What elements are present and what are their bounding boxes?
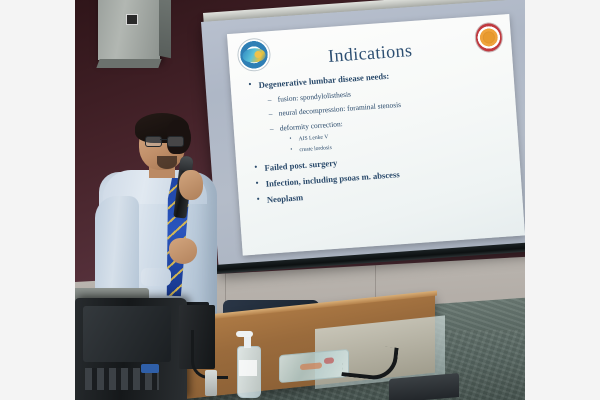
slide-bullet-list: Degenerative lumbar disease needs: fusio…: [246, 63, 512, 212]
wall-speaker: [98, 0, 160, 60]
lens-right: [167, 136, 184, 147]
speaker-bottom: [96, 59, 161, 68]
speaker-brand-badge: [126, 14, 138, 25]
glasses-bridge: [160, 139, 167, 140]
letterbox-left: [0, 0, 75, 400]
sanitizer-label: [239, 360, 257, 376]
presentation-remote: [205, 370, 217, 396]
bag-contents-a: [300, 362, 322, 370]
eyeglasses-icon: [145, 136, 185, 146]
letterbox-right: [525, 0, 600, 400]
speaker-side: [159, 0, 171, 58]
presenter-cuff: [141, 268, 171, 286]
hand-sanitizer-bottle: [235, 330, 261, 396]
computer-monitor-rear: [75, 298, 187, 400]
presenter-hand-upper: [179, 170, 203, 200]
presenter-beard: [157, 156, 177, 169]
sanitizer-nozzle: [236, 331, 253, 337]
lens-left: [145, 136, 162, 147]
photograph: Indications Degenerative lumbar disease …: [75, 0, 525, 400]
presentation-photo-scene: Indications Degenerative lumbar disease …: [0, 0, 600, 400]
vga-connector: [141, 364, 159, 373]
presenter-hand-lower: [169, 238, 197, 264]
projection-screen: Indications Degenerative lumbar disease …: [201, 0, 525, 271]
monitor-back-panel: [83, 306, 171, 362]
projected-slide: Indications Degenerative lumbar disease …: [227, 14, 525, 256]
bag-contents-b: [324, 357, 334, 364]
